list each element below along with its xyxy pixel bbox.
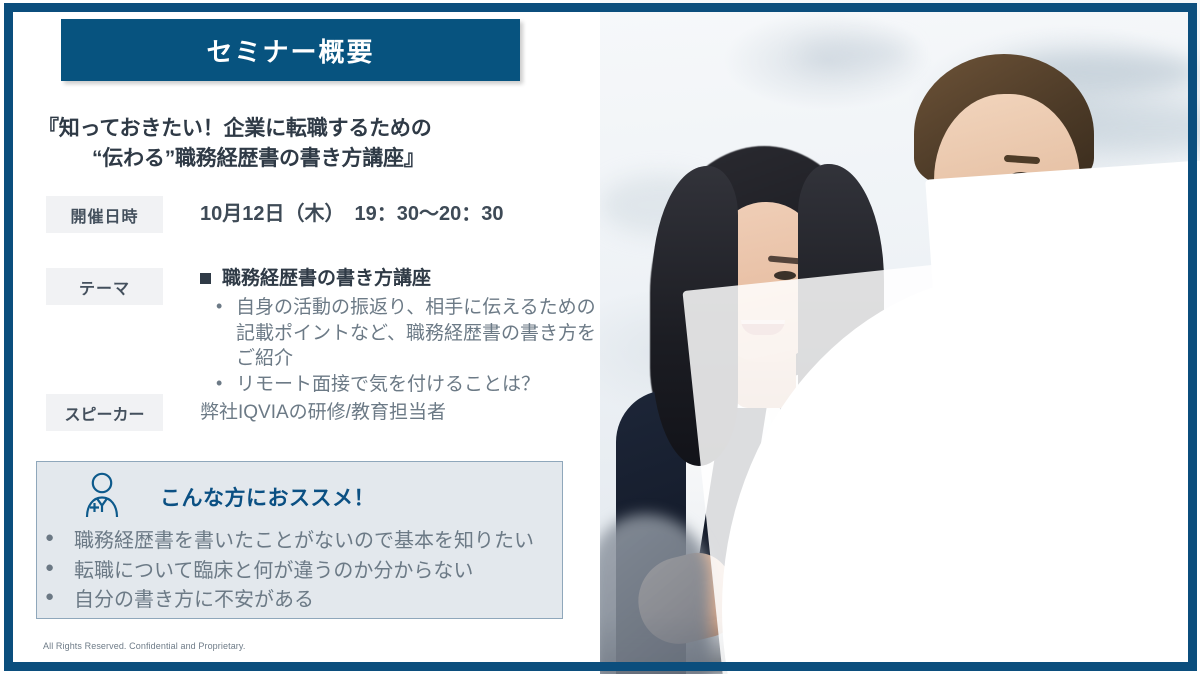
seminar-slide: セミナー概要 『知っておきたい！企業に転職するための “伝わる”職務経歴書の書き…	[0, 0, 1200, 674]
page-title: 『知っておきたい！企業に転職するための “伝わる”職務経歴書の書き方講座』	[38, 114, 583, 175]
label-date: 開催日時	[46, 196, 163, 233]
list-item: 職務経歴書を書いたことがないので基本を知りたい	[36, 527, 576, 557]
list-item: 自身の活動の振返り、相手に伝えるための記載ポイントなど、職務経歴書の書き方をご紹…	[214, 295, 600, 372]
detail-row-date: 開催日時 10月12日（木） 19：30～20：30	[46, 196, 503, 233]
theme-heading-label: 職務経歴書の書き方講座	[222, 268, 431, 291]
ceiling-lamp-icon	[800, 40, 910, 66]
detail-row-theme: テーマ 職務経歴書の書き方講座 自身の活動の振返り、相手に伝えるための記載ポイン…	[46, 268, 600, 398]
section-banner: セミナー概要	[61, 19, 520, 81]
value-date: 10月12日（木） 19：30～20：30	[200, 196, 503, 233]
square-bullet-icon	[200, 273, 211, 284]
business-people-photo	[600, 0, 1200, 674]
theme-heading: 職務経歴書の書き方講座	[200, 268, 600, 291]
footer-text: All Rights Reserved. Confidential and Pr…	[43, 641, 245, 651]
page-title-line2: “伝わる”職務経歴書の書き方講座』	[38, 144, 583, 174]
value-speaker: 弊社IQVIAの研修/教育担当者	[200, 394, 446, 431]
list-item: 自分の書き方に不安がある	[36, 586, 576, 616]
detail-row-speaker: スピーカー 弊社IQVIAの研修/教育担当者	[46, 394, 446, 431]
theme-body: 職務経歴書の書き方講座 自身の活動の振返り、相手に伝えるための記載ポイントなど、…	[200, 268, 600, 398]
page-title-line1: 『知っておきたい！企業に転職するための	[38, 117, 432, 140]
label-theme: テーマ	[46, 268, 163, 305]
section-banner-label: セミナー概要	[206, 32, 374, 69]
label-speaker: スピーカー	[46, 394, 163, 431]
recommendation-title: こんな方におススメ！	[160, 482, 375, 512]
theme-sub-list: 自身の活動の振返り、相手に伝えるための記載ポイントなど、職務経歴書の書き方をご紹…	[200, 295, 600, 398]
list-item: 転職について臨床と何が違うのか分からない	[36, 557, 576, 587]
photo-foreground-person-blur	[600, 514, 710, 674]
recommendation-list: 職務経歴書を書いたことがないので基本を知りたい 転職について臨床と何が違うのか分…	[36, 527, 576, 616]
doctor-person-icon	[80, 472, 136, 523]
recommendation-header: こんな方におススメ！	[36, 466, 563, 528]
content-column: セミナー概要 『知っておきたい！企業に転職するための “伝わる”職務経歴書の書き…	[0, 0, 600, 674]
